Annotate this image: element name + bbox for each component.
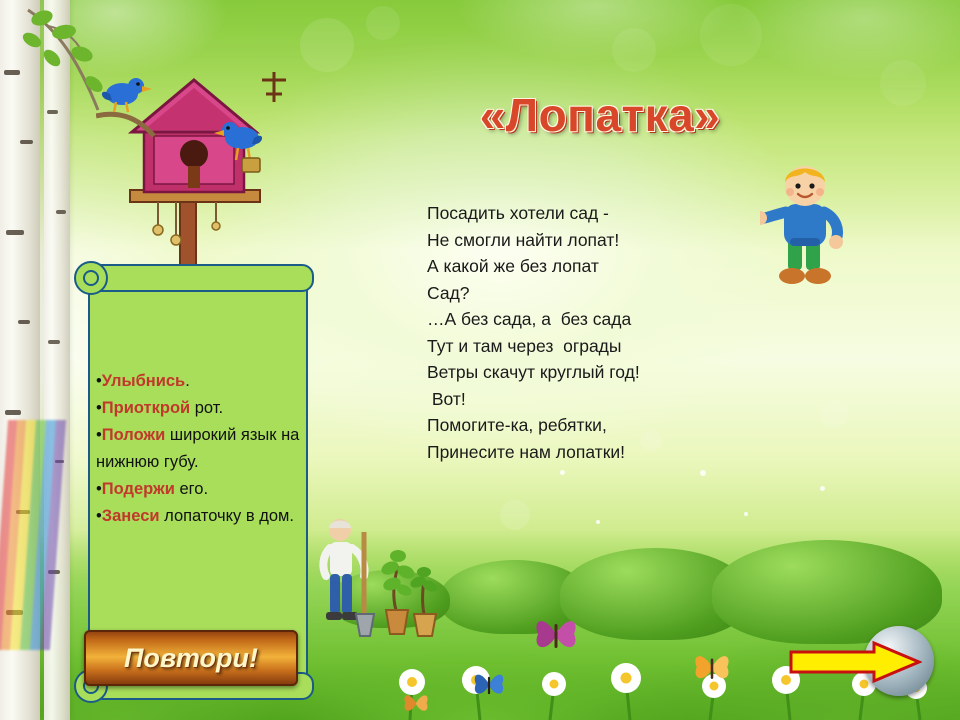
next-slide-button[interactable]	[788, 626, 934, 696]
right-arrow-icon[interactable]	[788, 640, 922, 684]
bokeh-circle	[700, 4, 762, 66]
butterfly-icon	[530, 612, 582, 656]
instruction-rest: .	[185, 372, 190, 390]
instruction-rest: его.	[175, 480, 208, 498]
sparkle	[820, 486, 825, 491]
slide-root: «Лопатка» Посадить хотели сад - Не смогл…	[0, 0, 960, 720]
scroll-curl-top-left	[74, 261, 108, 295]
sparkle	[744, 512, 748, 516]
instruction-rest: рот.	[190, 399, 223, 417]
list-item: •Приоткрой рот.	[96, 395, 302, 422]
repeat-button-label: Повтори!	[124, 643, 258, 674]
sparkle	[560, 470, 565, 475]
page-title: «Лопатка»	[400, 88, 800, 142]
list-item: •Занеси лопаточку в дом.	[96, 503, 302, 530]
list-item: •Положи широкий язык на нижнюю губу.	[96, 422, 302, 476]
bird-icon	[102, 78, 152, 112]
bokeh-circle	[820, 400, 848, 428]
butterfly-icon	[690, 648, 734, 686]
instruction-keyword: Занеси	[102, 507, 160, 525]
instruction-keyword: Подержи	[102, 480, 175, 498]
bokeh-circle	[500, 500, 530, 530]
poem-text: Посадить хотели сад - Не смогли найти ло…	[427, 200, 757, 465]
list-item: •Подержи его.	[96, 476, 302, 503]
instruction-keyword: Положи	[102, 426, 166, 444]
scroll-top-rod	[82, 264, 314, 292]
boy-character-illustration	[760, 160, 850, 290]
list-item: •Улыбнись.	[96, 368, 302, 395]
instruction-keyword: Приоткрой	[102, 399, 190, 417]
instructions-list: •Улыбнись. •Приоткрой рот. •Положи широк…	[96, 368, 302, 530]
bokeh-circle	[612, 28, 656, 72]
bokeh-circle	[366, 6, 400, 40]
butterfly-icon	[470, 668, 508, 700]
instruction-keyword: Улыбнись	[102, 372, 185, 390]
gardener-with-shovel-illustration	[312, 510, 442, 650]
butterfly-icon	[400, 690, 432, 716]
sparkle	[700, 470, 706, 476]
bokeh-circle	[300, 18, 354, 72]
repeat-button[interactable]: Повтори!	[84, 630, 298, 686]
bokeh-circle	[880, 60, 926, 106]
instruction-rest: лопаточку в дом.	[160, 507, 294, 525]
sparkle	[596, 520, 600, 524]
